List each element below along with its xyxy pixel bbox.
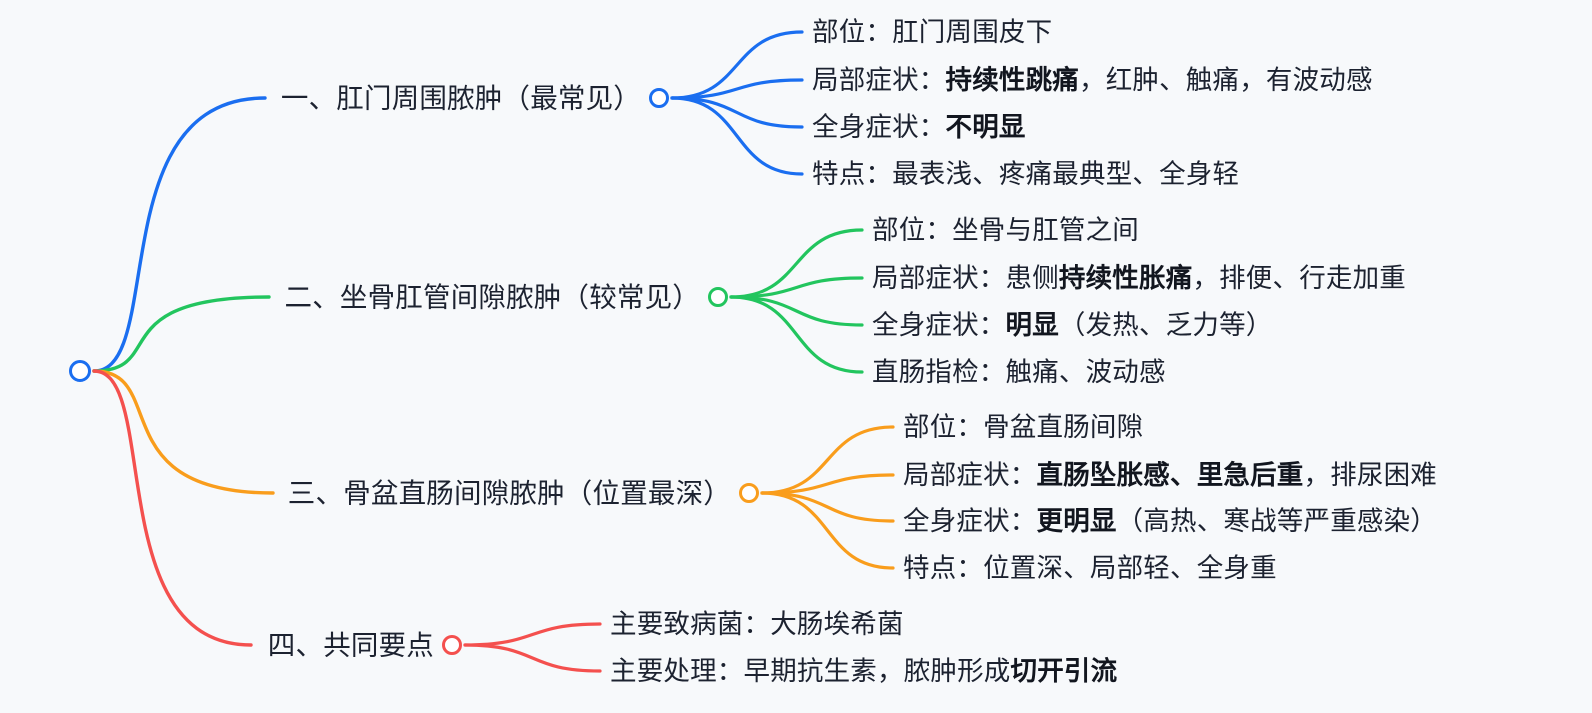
mindmap-edge: [731, 297, 862, 372]
branch-2-leaf-4[interactable]: 直肠指检：触痛、波动感: [872, 359, 1166, 386]
mindmap-edge: [731, 297, 862, 325]
branch-2-label[interactable]: 二、坐骨肛管间隙脓肿（较常见）: [0, 283, 700, 311]
branch-3-node[interactable]: [739, 483, 759, 503]
mindmap-edge: [465, 624, 600, 645]
branch-3-leaf-2[interactable]: 局部症状：直肠坠胀感、里急后重，排尿困难: [903, 462, 1437, 489]
mindmap-edge: [94, 371, 251, 645]
branch-1-node[interactable]: [649, 88, 669, 108]
branch-4-leaf-1[interactable]: 主要致病菌：大肠埃希菌: [610, 611, 904, 638]
branch-1-leaf-1[interactable]: 部位：肛门周围皮下: [812, 19, 1052, 46]
mindmap-edge: [94, 371, 273, 493]
branch-2-leaf-1[interactable]: 部位：坐骨与肛管之间: [872, 217, 1139, 244]
branch-3-leaf-4[interactable]: 特点：位置深、局部轻、全身重: [903, 555, 1277, 582]
mindmap-edge: [672, 98, 802, 127]
mindmap-edge: [762, 493, 893, 521]
branch-2-leaf-3[interactable]: 全身症状：明显（发热、乏力等）: [872, 312, 1273, 339]
branch-1-leaf-4[interactable]: 特点：最表浅、疼痛最典型、全身轻: [812, 161, 1239, 188]
mindmap-edge: [465, 645, 600, 671]
mindmap-edge: [762, 493, 893, 568]
branch-4-node[interactable]: [442, 635, 462, 655]
branch-1-label[interactable]: 一、肛门周围脓肿（最常见）: [0, 84, 641, 112]
branch-3-leaf-3[interactable]: 全身症状：更明显（高热、寒战等严重感染）: [903, 508, 1437, 535]
branch-2-node[interactable]: [708, 287, 728, 307]
branch-3-label[interactable]: 三、骨盆直肠间隙脓肿（位置最深）: [0, 479, 731, 507]
branch-1-leaf-2[interactable]: 局部症状：持续性跳痛，红肿、触痛，有波动感: [812, 67, 1373, 94]
mindmap-edge: [94, 98, 265, 371]
branch-4-leaf-2[interactable]: 主要处理：早期抗生素，脓肿形成切开引流: [610, 658, 1117, 685]
branch-3-leaf-1[interactable]: 部位：骨盆直肠间隙: [903, 414, 1143, 441]
branch-1-leaf-3[interactable]: 全身症状：不明显: [812, 114, 1026, 141]
mindmap-canvas: 一、肛门周围脓肿（最常见）部位：肛门周围皮下局部症状：持续性跳痛，红肿、触痛，有…: [0, 0, 1592, 713]
branch-4-label[interactable]: 四、共同要点: [0, 631, 434, 659]
branch-2-leaf-2[interactable]: 局部症状：患侧持续性胀痛，排便、行走加重: [872, 265, 1406, 292]
mindmap-edge: [672, 98, 802, 174]
root-node[interactable]: [69, 360, 91, 382]
